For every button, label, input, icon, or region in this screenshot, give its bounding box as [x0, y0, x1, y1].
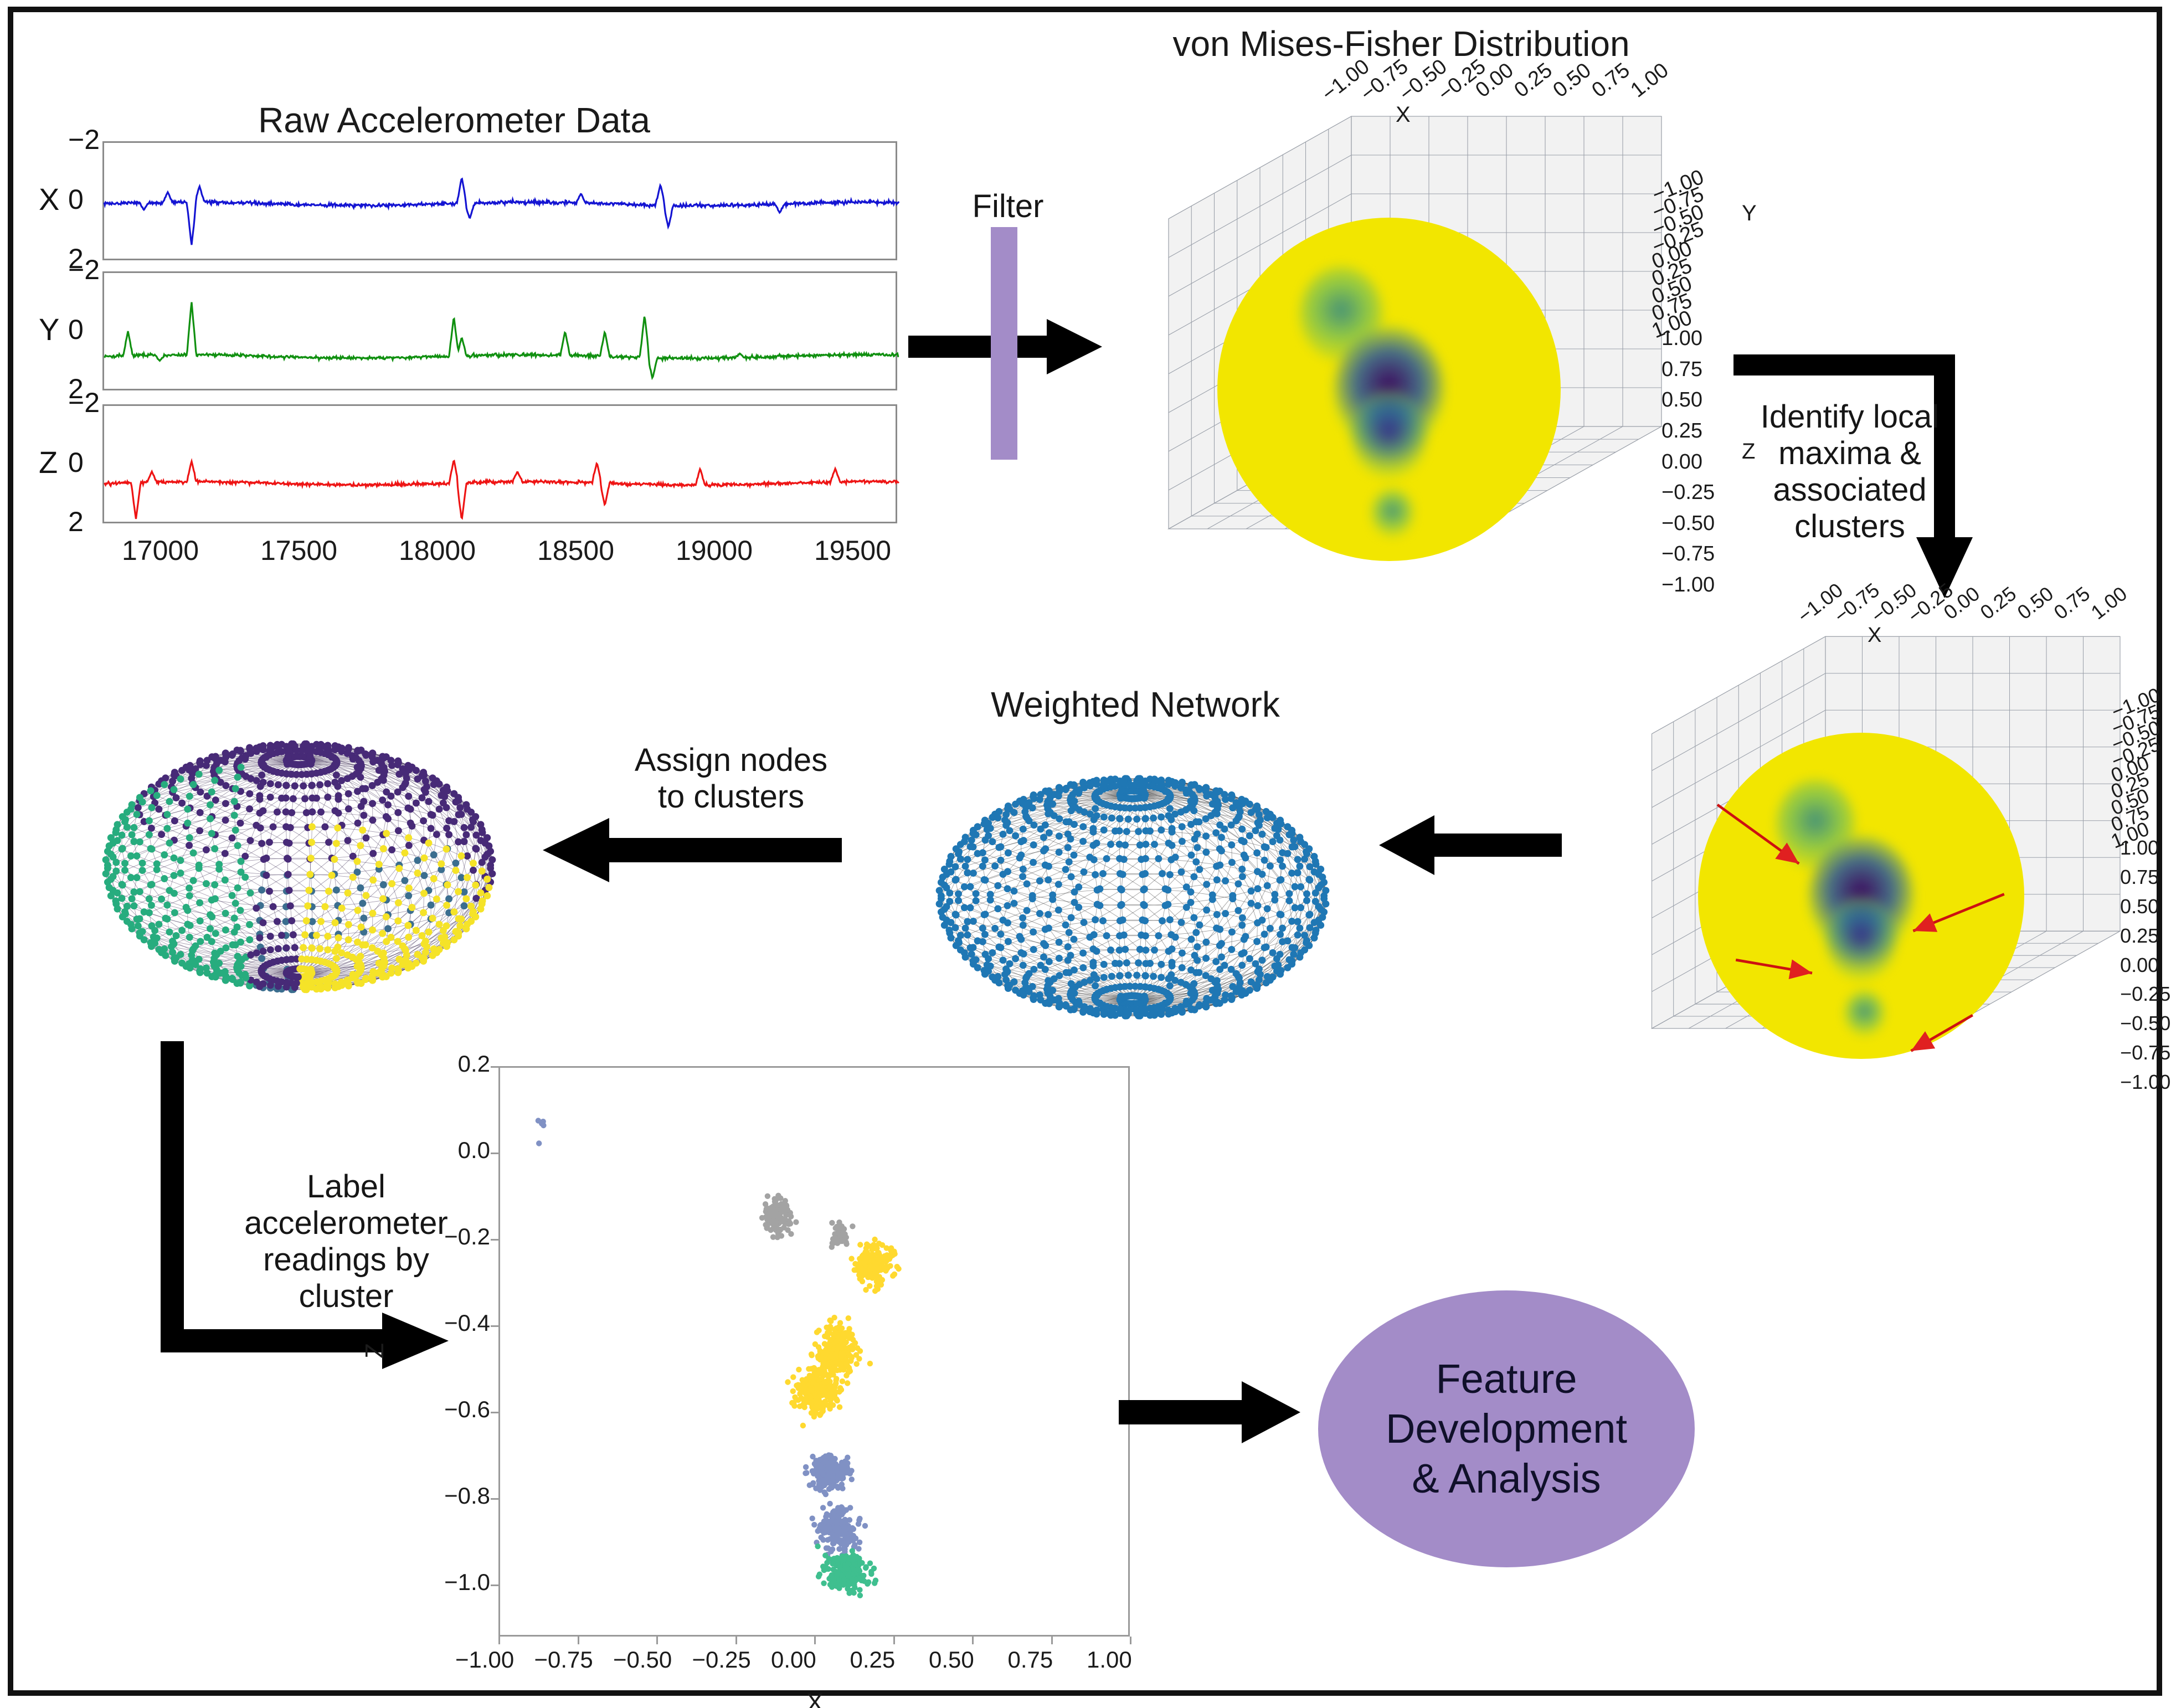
scatter-ytick-mark [491, 1066, 498, 1068]
vmf-density-sphere [1217, 218, 1561, 561]
accelerometer-axis-label-y: Y [39, 311, 59, 347]
vmf-y-axis-name: Y [1742, 201, 1757, 226]
scatter-xtick-mark [498, 1637, 500, 1644]
scatter-x-axis-label: X [806, 1688, 824, 1708]
scatter-points [498, 1066, 1130, 1637]
clustered-network-graph [89, 706, 510, 1027]
scatter-xtick: 1.00 [1087, 1647, 1132, 1673]
accelerometer-trace-z [104, 406, 899, 525]
accelerometer-subplot-y [102, 271, 897, 390]
scatter-ytick: −0.4 [415, 1310, 490, 1336]
arrow-to-weighted-network [1379, 809, 1562, 881]
accelerometer-ytick: 0 [68, 446, 84, 479]
scatter-xtick-mark [656, 1637, 658, 1644]
weighted-network-title: Weighted Network [936, 684, 1335, 725]
scatter-series-cluster-slate [803, 1452, 855, 1495]
scatter-xtick-mark [814, 1637, 816, 1644]
vmf-ztick: −0.75 [1661, 542, 1715, 566]
accelerometer-xtick: 17500 [260, 534, 337, 567]
vmf-ztick: 0.00 [2120, 954, 2159, 977]
scatter-ytick: −0.6 [415, 1396, 490, 1423]
scatter-xtick-mark [893, 1637, 895, 1644]
scatter-ytick: 0.2 [415, 1051, 490, 1077]
scatter-xtick-mark [972, 1637, 974, 1644]
scatter-ytick-mark [491, 1412, 498, 1413]
vmf-ztick: −0.25 [1661, 481, 1715, 505]
labeled-scatter-plot: −1.00−0.75−0.50−0.250.000.250.500.751.00… [498, 1066, 1130, 1637]
filter-bar-icon [991, 227, 1017, 460]
feature-node-line: & Analysis [1412, 1454, 1601, 1504]
weighted-network-sphere [922, 742, 1343, 1052]
scatter-xtick: 0.75 [1008, 1647, 1053, 1673]
scatter-xtick: 0.25 [850, 1647, 896, 1673]
accelerometer-ytick: −2 [68, 254, 100, 286]
vmf-ztick: 0.50 [2120, 895, 2159, 918]
accelerometer-title: Raw Accelerometer Data [155, 100, 753, 141]
vmf-ztick: −1.00 [1661, 573, 1715, 597]
vmf-ztick: 1.00 [2120, 836, 2159, 860]
scatter-ytick: −1.0 [415, 1569, 490, 1596]
vmf-ztick: 1.00 [1661, 327, 1702, 351]
vmf-ztick: −0.50 [2120, 1012, 2170, 1035]
feature-node-line: Development [1386, 1404, 1627, 1454]
scatter-ytick-mark [491, 1239, 498, 1241]
accelerometer-ytick: 0 [68, 183, 84, 215]
accelerometer-ytick: −2 [68, 124, 100, 156]
accelerometer-xtick: 19500 [814, 534, 891, 567]
scatter-ytick: 0.0 [415, 1137, 490, 1164]
clustered-network-sphere [89, 706, 510, 1027]
vmf-ztick: 0.50 [1661, 388, 1702, 412]
vmf-ztick: 0.25 [2120, 924, 2159, 948]
vmf-ztick: 0.75 [2120, 866, 2159, 889]
vmf-ztick: −0.50 [1661, 512, 1715, 536]
scatter-ytick: −0.8 [415, 1483, 490, 1509]
figure-canvas: Raw Accelerometer Data X−202Y−202Z−20217… [0, 0, 2176, 1708]
accelerometer-axis-label-z: Z [39, 444, 58, 480]
accelerometer-xtick: 18500 [537, 534, 614, 567]
scatter-ytick-mark [491, 1153, 498, 1154]
scatter-xtick: −0.25 [692, 1647, 751, 1673]
feature-development-node[interactable]: FeatureDevelopment& Analysis [1318, 1290, 1695, 1567]
accelerometer-subplot-x [102, 141, 897, 260]
scatter-ytick-mark [491, 1498, 498, 1500]
accelerometer-ytick: −2 [68, 387, 100, 419]
arrow-assign-nodes [543, 811, 842, 889]
scatter-xtick-mark [735, 1637, 737, 1644]
accelerometer-xtick: 19000 [676, 534, 753, 567]
vmf-ztick: 0.75 [1661, 358, 1702, 382]
scatter-xtick: −0.50 [613, 1647, 672, 1673]
accelerometer-trace-y [104, 273, 899, 392]
vmf-ztick: −1.00 [2120, 1071, 2170, 1094]
scatter-xtick: −0.75 [534, 1647, 593, 1673]
accelerometer-trace-x [104, 143, 899, 262]
scatter-series-cluster-gray [759, 1193, 799, 1241]
vmf-ztick: 0.25 [1661, 419, 1702, 443]
scatter-ytick-mark [491, 1584, 498, 1586]
accelerometer-subplot-z [102, 404, 897, 523]
feature-node-line: Feature [1436, 1354, 1577, 1404]
arrow-to-feature-development [1119, 1373, 1302, 1451]
vmf-distribution-plot-top: −1.00−0.75−0.50−0.250.000.250.500.751.00… [1086, 108, 1695, 606]
local-maxima-annotation-arrows [1686, 721, 2054, 1120]
accelerometer-xtick: 17000 [122, 534, 199, 567]
scatter-series-outliers [536, 1118, 547, 1146]
accelerometer-ytick: 2 [68, 506, 84, 538]
step-label-identify: Identify local maxima & associated clust… [1745, 399, 1955, 545]
scatter-series-cluster-slate-2 [810, 1491, 868, 1564]
scatter-xtick-mark [1130, 1637, 1131, 1644]
vmf-x-axis-name: X [1868, 624, 1881, 647]
scatter-series-cluster-yellow [848, 1237, 901, 1294]
scatter-xtick: −1.00 [455, 1647, 514, 1673]
accelerometer-ytick: 0 [68, 313, 84, 346]
scatter-ytick: −0.2 [415, 1223, 490, 1250]
scatter-y-axis-label: Z [359, 1343, 389, 1359]
vmf-ztick: −0.75 [2120, 1041, 2170, 1064]
vmf-x-axis-name: X [1396, 102, 1411, 127]
scatter-xtick-mark [1051, 1637, 1053, 1644]
weighted-network-graph [922, 742, 1343, 1052]
vmf-ztick: 0.00 [1661, 450, 1702, 474]
accelerometer-xtick: 18000 [399, 534, 476, 567]
step-label-filter: Filter [908, 188, 1108, 225]
vmf-ztick: −0.25 [2120, 982, 2170, 1006]
vmf-density-peak [1351, 390, 1427, 477]
scatter-series-cluster-gray-2 [829, 1220, 856, 1250]
step-label-assign: Assign nodes to clusters [576, 742, 886, 815]
scatter-xtick-mark [578, 1637, 579, 1644]
scatter-ytick-mark [491, 1325, 498, 1327]
scatter-xtick: 0.00 [771, 1647, 816, 1673]
scatter-xtick: 0.50 [929, 1647, 974, 1673]
accelerometer-axis-label-x: X [39, 181, 59, 217]
vmf-distribution-plot-bottom: −1.00−0.75−0.50−0.250.000.250.500.751.00… [1573, 629, 2152, 1102]
vmf-density-peak [1372, 489, 1413, 537]
